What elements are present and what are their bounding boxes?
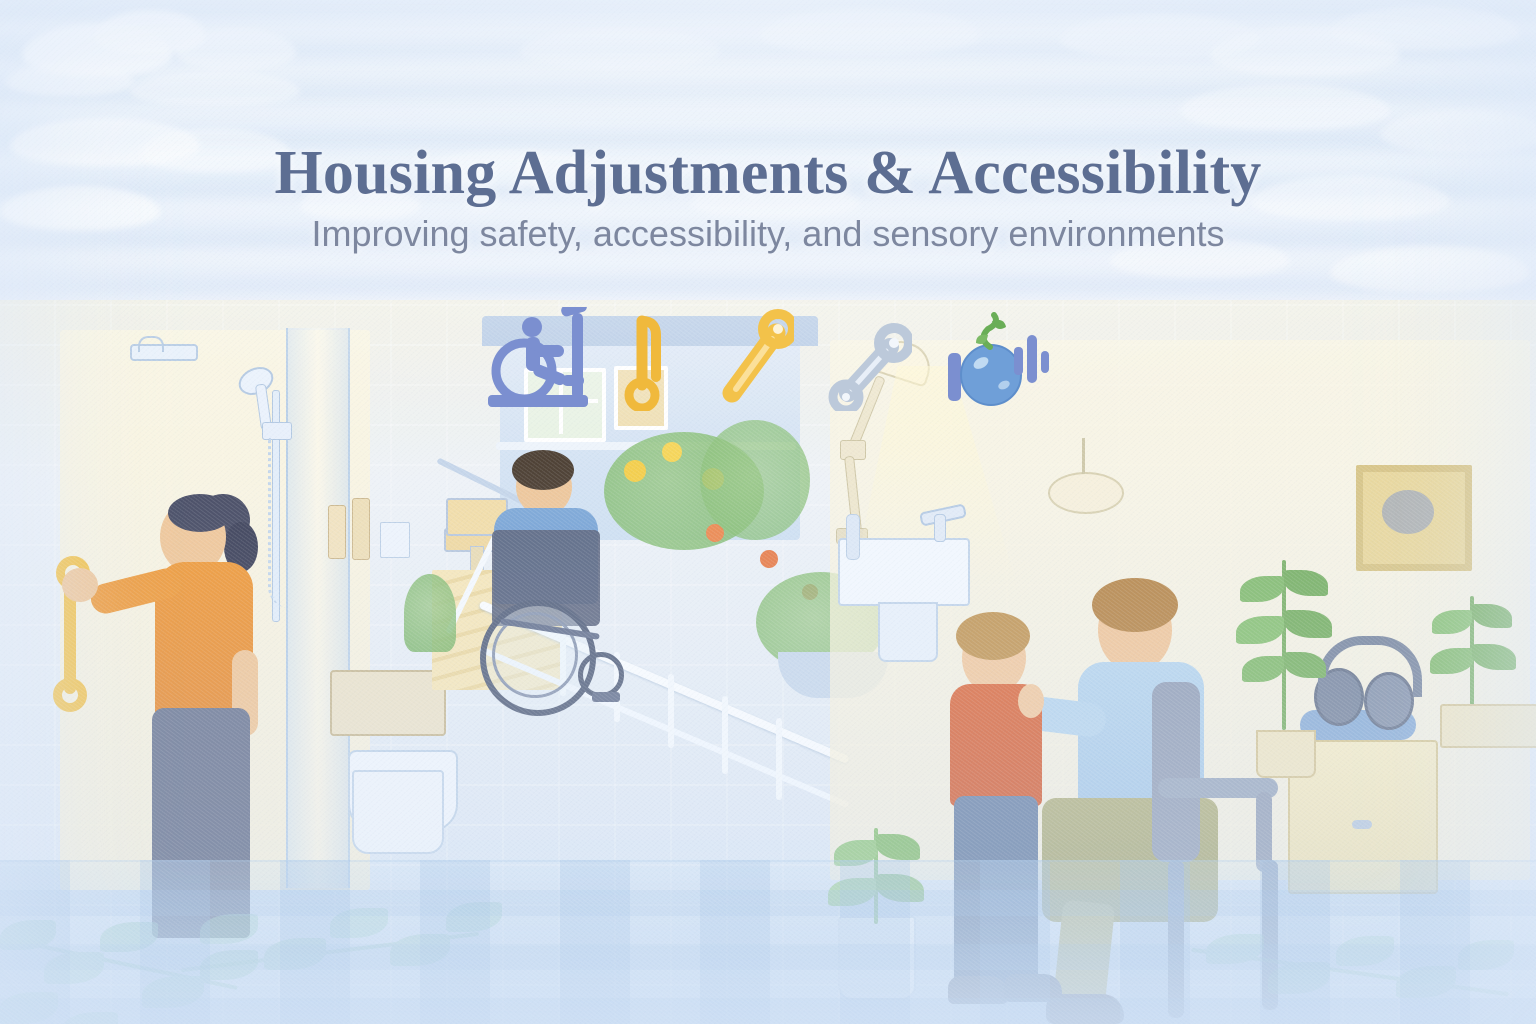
wheelchair-user-hair <box>512 450 574 490</box>
cloud-puff <box>520 28 720 68</box>
ramp-baluster <box>668 674 674 748</box>
storage-box <box>330 670 446 736</box>
page-subtitle: Improving safety, accessibility, and sen… <box>0 213 1536 255</box>
plant-pot <box>1256 730 1316 778</box>
ramp-baluster <box>776 718 782 800</box>
pendant-light-cord <box>1082 438 1085 474</box>
child-hand-raised <box>1018 684 1044 718</box>
woman-hand-on-bar <box>62 568 98 602</box>
yellow-flower <box>662 442 682 462</box>
orange-flower <box>760 550 778 568</box>
grab-bar-diagonal-icon <box>716 307 794 411</box>
ramp-baluster <box>722 696 728 774</box>
potted-plant-ramp-left <box>404 574 456 652</box>
side-table-drawer-knob <box>1352 820 1372 829</box>
pendant-light <box>1048 472 1124 514</box>
toiletry-bottle <box>328 505 346 559</box>
sink-grab-support <box>846 514 860 560</box>
accessibility-icon-row <box>0 296 1536 422</box>
floor-tile-wash <box>0 860 1536 1024</box>
cloud-puff <box>176 28 296 70</box>
sink-pedestal <box>878 602 938 662</box>
cloud-puff <box>1330 6 1520 50</box>
woman-hair-front <box>168 494 232 532</box>
cloud-puff <box>760 8 980 54</box>
sink-tap-body <box>934 514 946 542</box>
grab-bar-lower-flange <box>53 678 87 712</box>
cloud-puff <box>1180 84 1390 130</box>
wheelchair-accessibility-icon <box>486 307 590 411</box>
yellow-flower <box>624 460 646 482</box>
grab-bar-vertical-icon <box>624 307 682 411</box>
sensory-environment-icon <box>946 307 1050 411</box>
wheelchair-footplate <box>592 692 620 702</box>
bucket <box>352 770 444 854</box>
cloud-puff <box>130 70 300 106</box>
child-hair <box>956 612 1030 660</box>
framed-picture-art <box>1382 490 1434 534</box>
grab-bar-silver-icon <box>828 307 912 411</box>
plant-box <box>1440 704 1536 748</box>
supportive-armchair-back <box>1152 682 1200 862</box>
tall-shrub <box>700 420 810 540</box>
poster-canvas: Housing Adjustments & Accessibility Impr… <box>0 0 1536 1024</box>
cloud-puff <box>6 62 134 96</box>
shower-hose <box>268 438 289 608</box>
bathroom-tumbler <box>380 522 410 558</box>
toiletry-bottle <box>352 498 370 560</box>
page-title: Housing Adjustments & Accessibility <box>0 138 1536 209</box>
adult-hair <box>1092 578 1178 632</box>
